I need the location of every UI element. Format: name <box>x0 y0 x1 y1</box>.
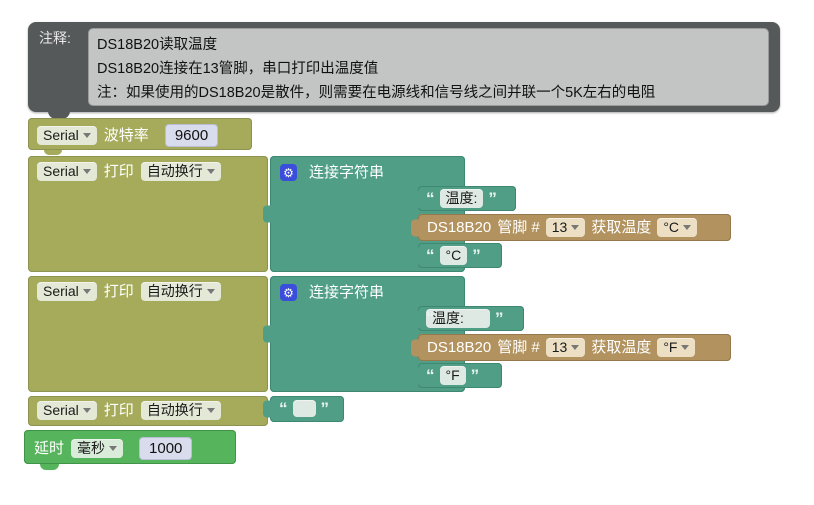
ds18b20-block-2[interactable]: DS18B20 管脚 # 13 获取温度 °F <box>418 334 731 361</box>
action-label: 获取温度 <box>591 220 651 235</box>
serial-print-block-2[interactable]: Serial 打印 自动换行 <box>28 276 268 392</box>
join-label: 连接字符串 <box>309 165 384 180</box>
text-value-field[interactable]: 温度: <box>426 309 490 328</box>
open-quote-icon: “ <box>279 400 288 417</box>
chevron-down-icon <box>83 289 91 294</box>
chevron-down-icon <box>207 289 215 294</box>
delay-label: 延时 <box>34 441 64 456</box>
sensor-name: DS18B20 <box>427 340 491 355</box>
value-plug <box>411 247 419 264</box>
join-label: 连接字符串 <box>309 285 384 300</box>
blockly-workspace[interactable]: 注释: DS18B20读取温度 DS18B20连接在13管脚，串口打印出温度值 … <box>0 0 814 505</box>
serial-port-dropdown[interactable]: Serial <box>37 401 97 420</box>
serial-port-value: Serial <box>43 127 79 144</box>
serial-port-dropdown[interactable]: Serial <box>37 126 97 145</box>
ds18b20-block-1[interactable]: DS18B20 管脚 # 13 获取温度 °C <box>418 214 731 241</box>
delay-value-field[interactable]: 1000 <box>139 437 192 460</box>
text-value-field[interactable]: 温度: <box>440 189 484 208</box>
gear-icon[interactable]: ⚙ <box>280 284 297 301</box>
text-block-3[interactable]: 温度: ” “ <box>418 306 524 331</box>
open-quote-icon: “ <box>426 247 435 264</box>
pin-dropdown[interactable]: 13 <box>546 218 586 237</box>
chevron-down-icon <box>83 408 91 413</box>
open-quote-icon: “ <box>426 309 435 326</box>
serial-baud-block[interactable]: Serial 波特率 9600 <box>28 118 252 150</box>
print-mode-value: 自动换行 <box>147 402 203 419</box>
serial-port-dropdown[interactable]: Serial <box>37 282 97 301</box>
serial-print-block-1[interactable]: Serial 打印 自动换行 <box>28 156 268 272</box>
action-label: 获取温度 <box>591 340 651 355</box>
value-plug <box>263 326 271 343</box>
delay-unit-value: 毫秒 <box>77 440 105 457</box>
chevron-down-icon <box>681 345 689 350</box>
chevron-down-icon <box>83 133 91 138</box>
chevron-down-icon <box>207 169 215 174</box>
chevron-down-icon <box>571 345 579 350</box>
chevron-down-icon <box>83 169 91 174</box>
text-block-2[interactable]: “ °C ” <box>418 243 502 268</box>
text-value-field[interactable]: °C <box>440 246 468 265</box>
close-quote-icon: ” <box>488 190 497 207</box>
block-bottom-tab <box>44 150 62 155</box>
block-bottom-tab <box>40 464 59 470</box>
unit-dropdown[interactable]: °F <box>657 338 695 357</box>
print-mode-value: 自动换行 <box>147 283 203 300</box>
text-block-1[interactable]: “ 温度: ” <box>418 186 516 211</box>
chevron-down-icon <box>571 225 579 230</box>
text-block-4[interactable]: “ °F ” <box>418 363 502 388</box>
value-plug <box>263 401 271 418</box>
value-plug <box>411 310 419 327</box>
text-block-empty[interactable]: “ ” <box>270 396 344 422</box>
value-plug <box>411 190 419 207</box>
comment-block[interactable]: 注释: DS18B20读取温度 DS18B20连接在13管脚，串口打印出温度值 … <box>28 22 780 112</box>
delay-block[interactable]: 延时 毫秒 1000 <box>24 430 236 464</box>
print-mode-dropdown[interactable]: 自动换行 <box>141 401 221 420</box>
print-mode-dropdown[interactable]: 自动换行 <box>141 162 221 181</box>
open-quote-icon: “ <box>426 367 435 384</box>
pin-dropdown[interactable]: 13 <box>546 338 586 357</box>
chevron-down-icon <box>207 408 215 413</box>
close-quote-icon: ” <box>495 310 504 327</box>
value-plug <box>411 367 419 384</box>
pin-value: 13 <box>552 219 568 236</box>
chevron-down-icon <box>109 446 117 451</box>
close-quote-icon: ” <box>321 400 330 417</box>
print-mode-value: 自动换行 <box>147 163 203 180</box>
comment-title: 注释: <box>39 30 71 46</box>
text-value-field[interactable] <box>293 400 316 417</box>
baud-label: 波特率 <box>104 128 149 143</box>
serial-port-value: Serial <box>43 402 79 419</box>
pin-value: 13 <box>552 339 568 356</box>
pin-label: 管脚 # <box>497 220 540 235</box>
serial-port-value: Serial <box>43 163 79 180</box>
serial-port-value: Serial <box>43 283 79 300</box>
value-plug <box>263 206 271 223</box>
text-value-field[interactable]: °F <box>440 366 466 385</box>
unit-dropdown[interactable]: °C <box>657 218 697 237</box>
close-quote-icon: ” <box>472 247 481 264</box>
gear-icon[interactable]: ⚙ <box>280 164 297 181</box>
open-quote-icon: “ <box>426 190 435 207</box>
serial-port-dropdown[interactable]: Serial <box>37 162 97 181</box>
unit-value: °F <box>663 339 677 356</box>
chevron-down-icon <box>683 225 691 230</box>
baud-value-field[interactable]: 9600 <box>165 124 218 147</box>
unit-value: °C <box>663 219 679 236</box>
print-mode-dropdown[interactable]: 自动换行 <box>141 282 221 301</box>
sensor-name: DS18B20 <box>427 220 491 235</box>
print-label: 打印 <box>104 284 134 299</box>
print-label: 打印 <box>104 403 134 418</box>
pin-label: 管脚 # <box>497 340 540 355</box>
print-label: 打印 <box>104 164 134 179</box>
value-plug <box>411 219 419 236</box>
comment-text-area[interactable]: DS18B20读取温度 DS18B20连接在13管脚，串口打印出温度值 注：如果… <box>88 28 769 106</box>
serial-print-block-3[interactable]: Serial 打印 自动换行 <box>28 396 268 426</box>
close-quote-icon: ” <box>471 367 480 384</box>
value-plug <box>411 339 419 356</box>
delay-unit-dropdown[interactable]: 毫秒 <box>71 439 123 458</box>
